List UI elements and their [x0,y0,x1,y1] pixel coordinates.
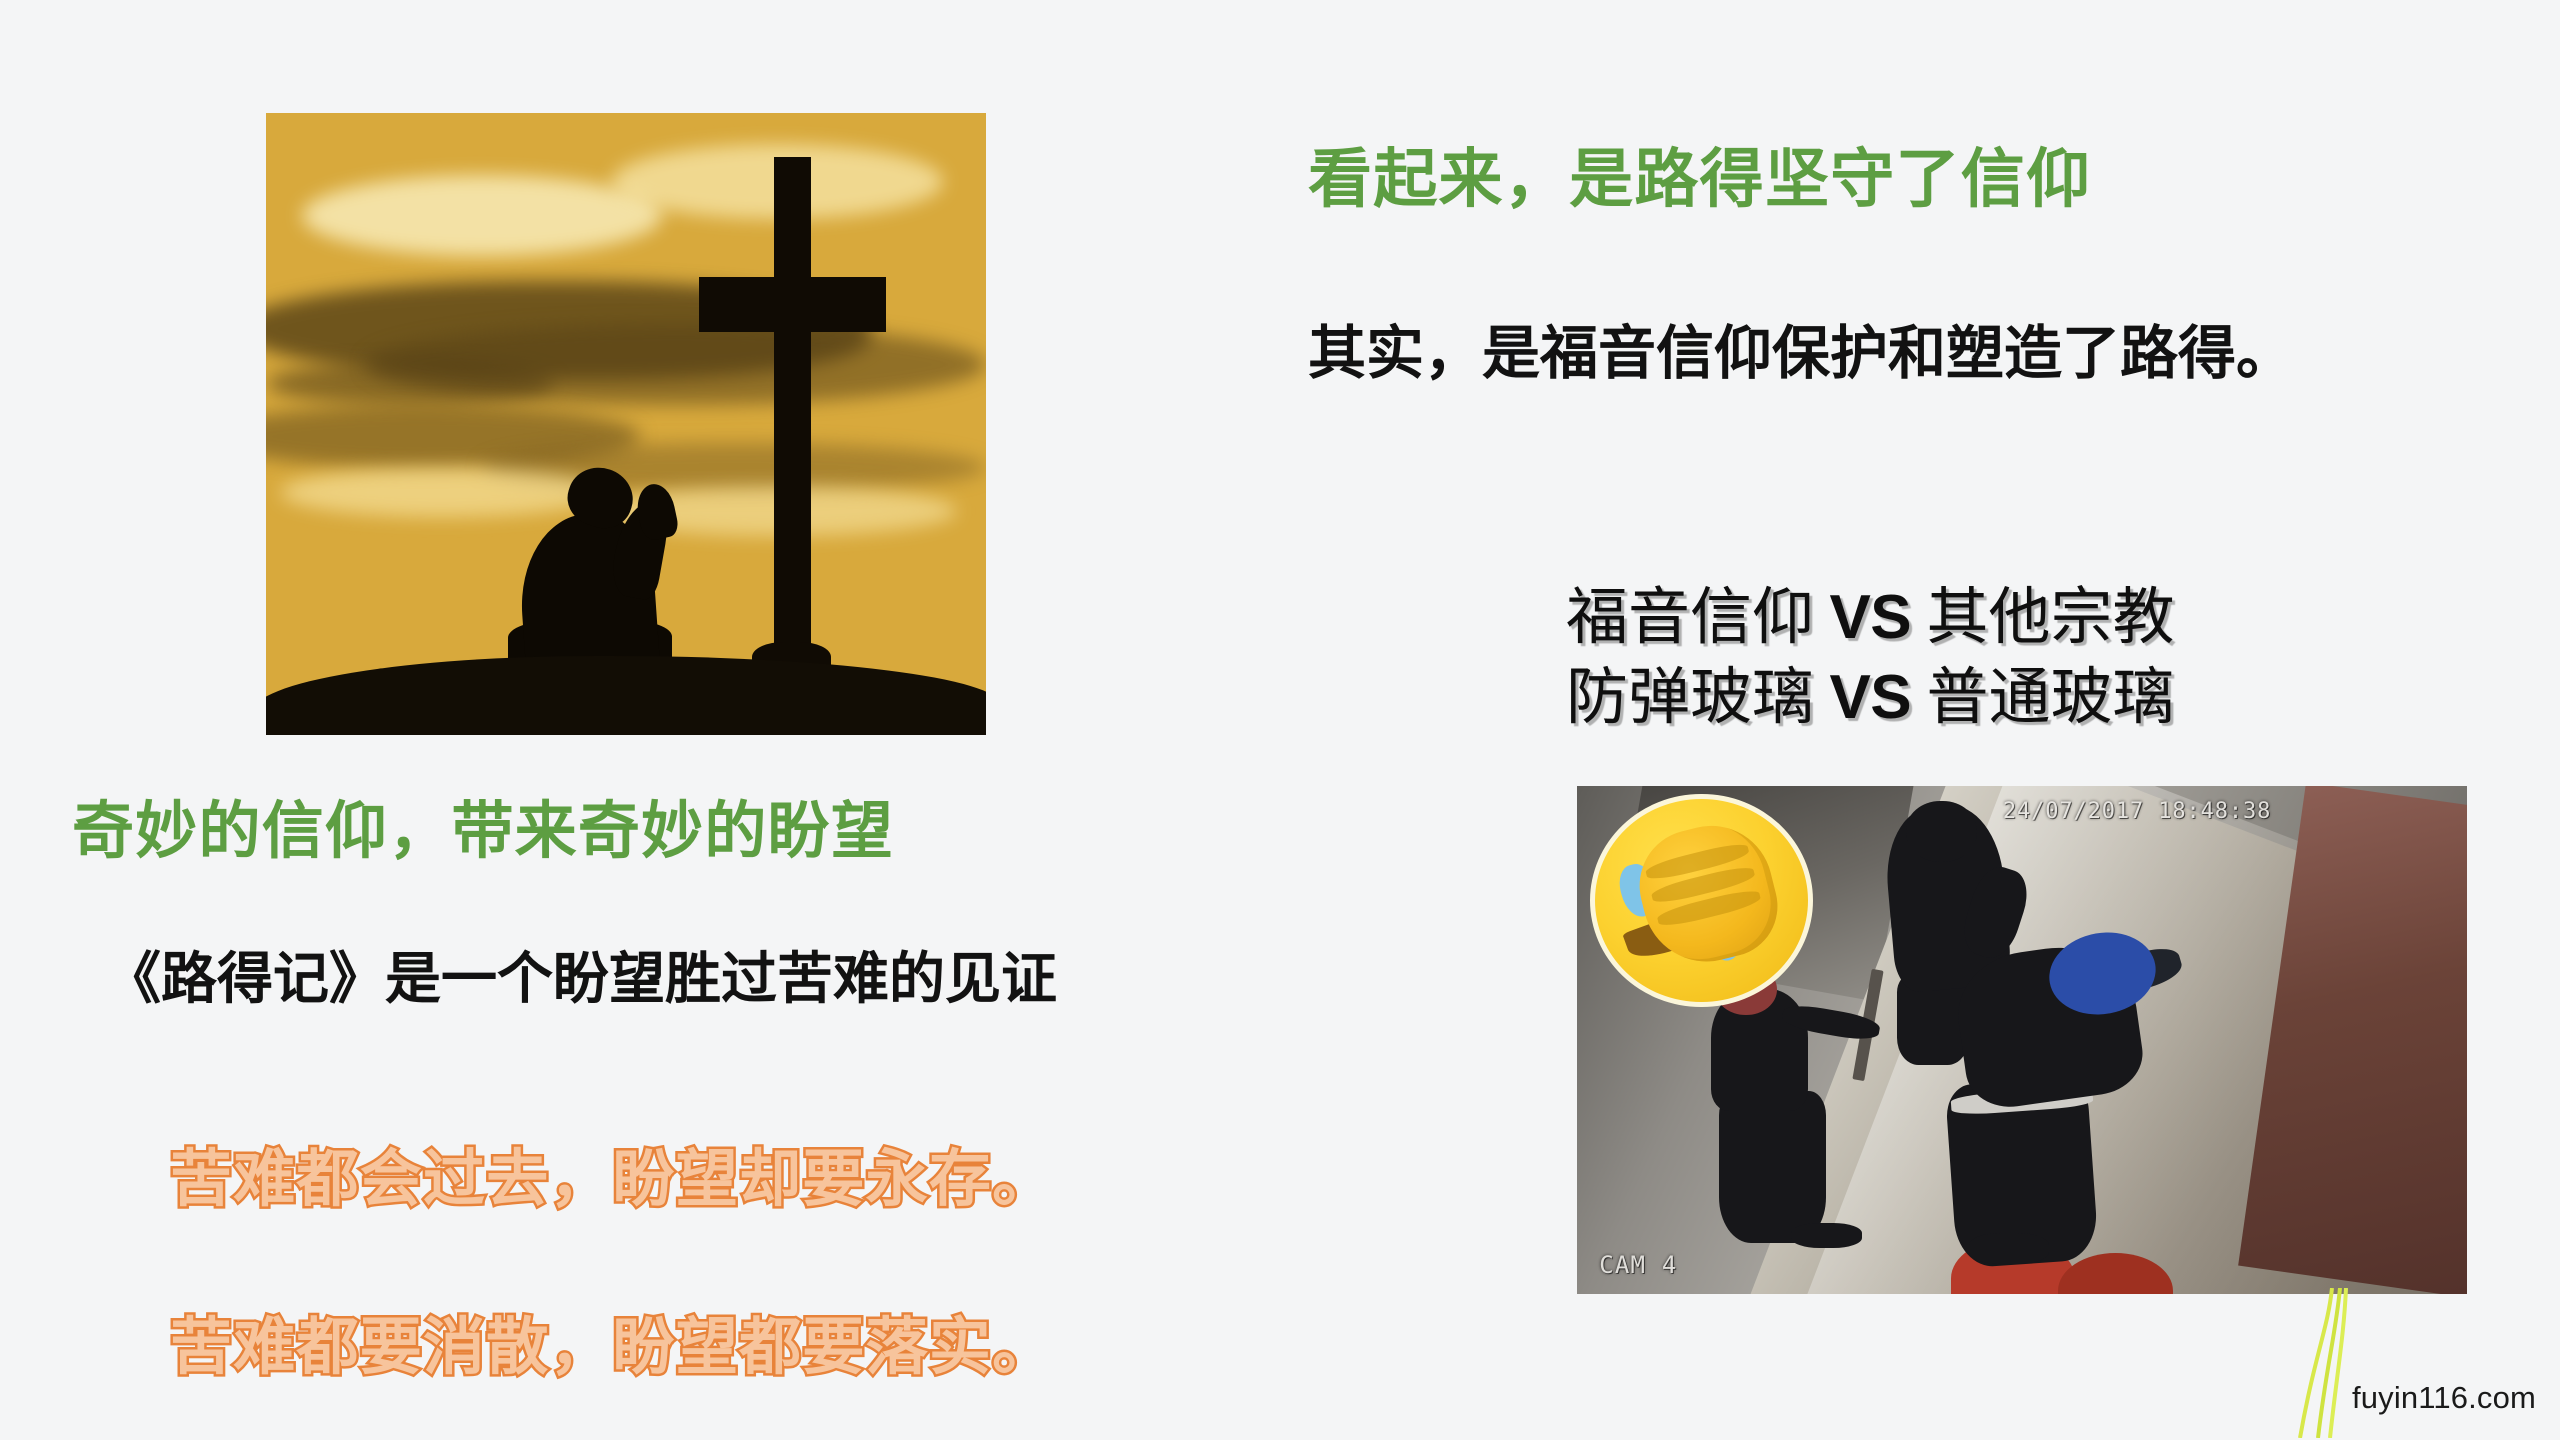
slide-canvas: 看起来，是路得坚守了信仰 其实，是福音信仰保护和塑造了路得。 福音信仰 VS 其… [0,0,2560,1440]
person-c-shoe [1969,1233,2049,1263]
orange-statement-1: 苦难都会过去，盼望却要永存。 [170,1128,1055,1218]
comparison-line-1: 福音信仰 VS 其他宗教 [1566,578,2175,658]
site-watermark: fuyin116.com [2352,1380,2536,1416]
person-a-shoe [1791,1223,1862,1248]
comparison-line2-left: 防弹玻璃 [1566,664,1814,732]
cctv-screenshot-photo: 24/07/2017 18:48:38 CAM 4 [1577,786,2467,1294]
right-headline: 看起来，是路得坚守了信仰 [1308,128,2091,220]
cross-sunset-photo [266,113,986,735]
person-b-head [1906,801,1977,862]
face-palm-emoji [1590,794,1813,1007]
comparison-line2-right: 普通玻璃 [1926,664,2174,732]
cross-icon [774,157,811,679]
comparison-line1-token: VS [1830,583,1911,652]
cloud-dark [367,324,986,405]
comparison-block: 福音信仰 VS 其他宗教 防弹玻璃 VS 普通玻璃 [1566,578,2175,739]
squiggle-stroke [2330,1288,2346,1438]
person-a-legs [1719,1091,1826,1243]
squiggle-stroke [2318,1288,2340,1438]
comparison-line1-right: 其他宗教 [1926,584,2174,652]
left-subline: 《路得记》是一个盼望胜过苦难的见证 [105,934,1057,1015]
left-headline: 奇妙的信仰，带来奇妙的盼望 [72,780,894,870]
comparison-line2-token: VS [1830,663,1911,732]
right-subline: 其实，是福音信仰保护和塑造了路得。 [1308,306,2294,390]
cctv-camera-label: CAM 4 [1599,1251,1677,1279]
comparison-line-2: 防弹玻璃 VS 普通玻璃 [1566,658,2175,738]
cloud-light [302,175,662,256]
praying-figure-silhouette [504,468,720,679]
orange-statement-2: 苦难都要消散，盼望都要落实。 [170,1296,1055,1386]
emoji-face-circle [1590,794,1813,1007]
comparison-line1-left: 福音信仰 [1566,584,1814,652]
squiggle-stroke [2300,1288,2332,1438]
cctv-timestamp: 24/07/2017 18:48:38 [2003,799,2271,824]
